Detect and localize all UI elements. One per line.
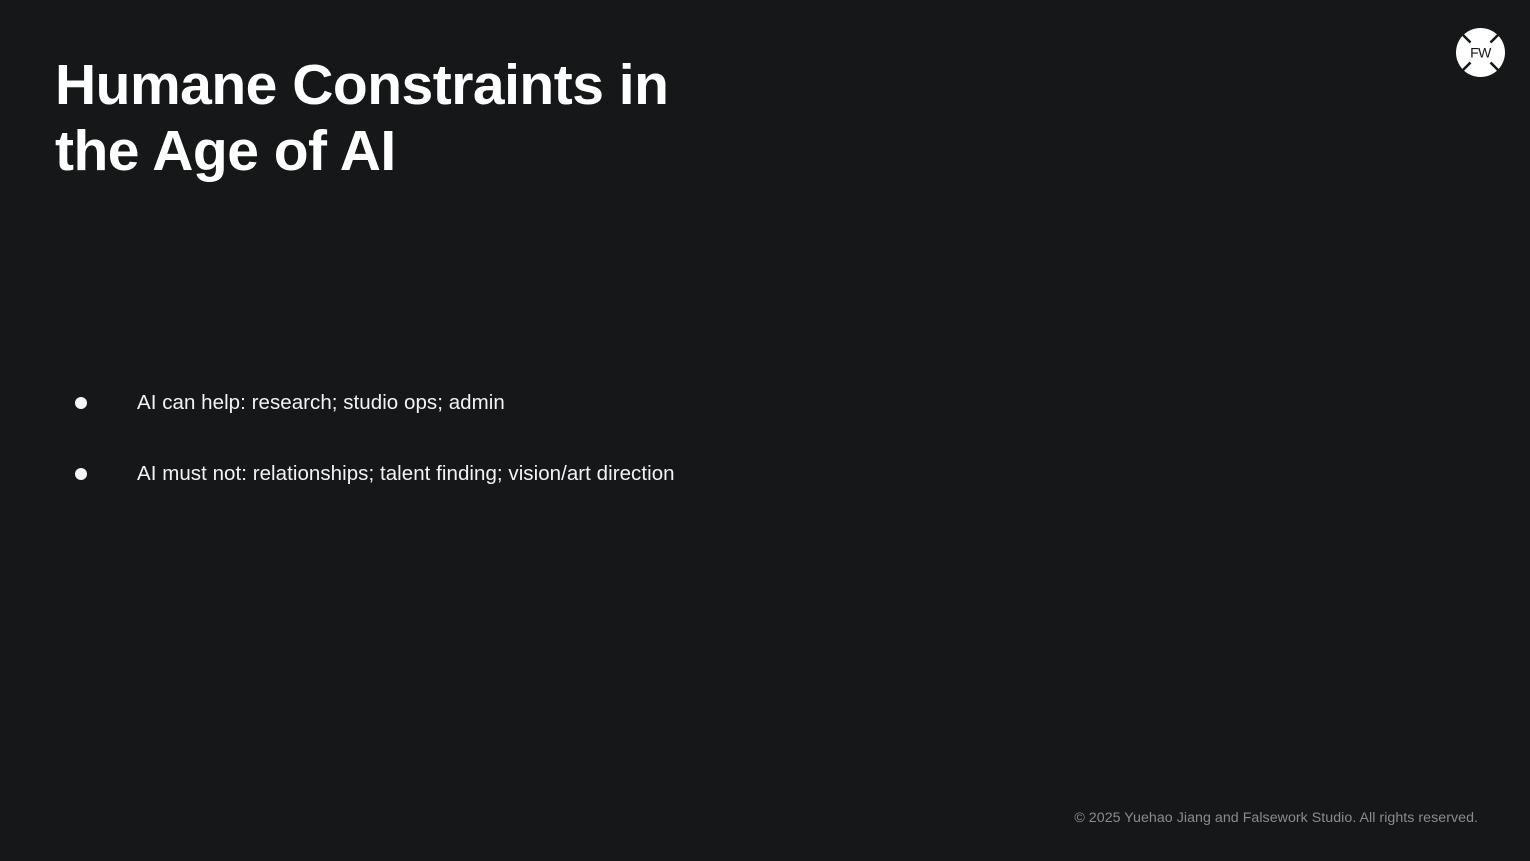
list-item: AI must not: relationships; talent findi… (55, 456, 1255, 504)
falsework-studio-logo: FW (1453, 25, 1508, 80)
list-item-label: AI can help: research; studio ops; admin (137, 385, 1255, 421)
bullet-list: AI can help: research; studio ops; admin… (55, 385, 1255, 504)
list-item-label: AI must not: relationships; talent findi… (137, 456, 1255, 492)
logo-monogram: FW (1470, 45, 1492, 61)
copyright-footer: © 2025 Yuehao Jiang and Falsework Studio… (1074, 809, 1478, 827)
page-title: Humane Constraints in the Age of AI (55, 52, 955, 184)
bullet-dot-icon (75, 397, 87, 409)
list-item: AI can help: research; studio ops; admin (55, 385, 1255, 433)
logo-circle-icon: FW (1453, 25, 1508, 80)
bullet-dot-icon (75, 468, 87, 480)
presentation-slide: Humane Constraints in the Age of AI FW A… (0, 0, 1530, 861)
